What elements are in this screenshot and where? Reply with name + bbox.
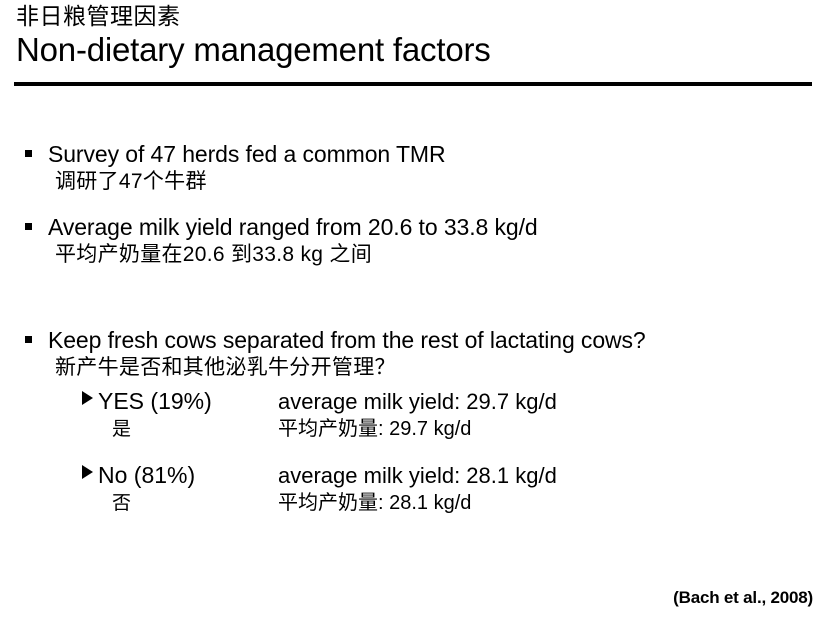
subitem-yes-label-chinese: 是 xyxy=(82,417,278,443)
title-divider-rule xyxy=(14,82,812,86)
source-citation: (Bach et al., 2008) xyxy=(673,588,813,608)
square-bullet-icon xyxy=(25,223,32,230)
bullet-item-2: Average milk yield ranged from 20.6 to 3… xyxy=(0,213,829,268)
page-title-english: Non-dietary management factors xyxy=(16,30,816,70)
bullet-item-3: Keep fresh cows separated from the rest … xyxy=(0,326,829,381)
square-bullet-icon xyxy=(25,150,32,157)
subitem-yes-value: average milk yield: 29.7 kg/d xyxy=(278,387,557,416)
square-bullet-icon xyxy=(25,336,32,343)
bullet-3-chinese: 新产牛是否和其他泌乳牛分开管理？ xyxy=(55,354,829,381)
subitem-yes-english-line: YES (19%) average milk yield: 29.7 kg/d xyxy=(82,387,829,416)
page-title-chinese: 非日粮管理因素 xyxy=(16,2,816,30)
bullet-1-chinese: 调研了47个牛群 xyxy=(55,168,829,195)
bullet-2-chinese: 平均产奶量在20.6 到33.8 kg 之间 xyxy=(55,241,829,268)
subitem-yes: YES (19%) average milk yield: 29.7 kg/d … xyxy=(82,387,829,443)
slide-body: Survey of 47 herds fed a common TMR 调研了4… xyxy=(0,140,829,517)
subitem-no-label-chinese: 否 xyxy=(82,491,278,517)
title-block: 非日粮管理因素 Non-dietary management factors xyxy=(16,2,816,70)
spacer-3 xyxy=(0,443,829,455)
subitem-no-chinese-line: 否 平均产奶量: 28.1 kg/d xyxy=(82,490,829,517)
subitem-no-label: No (81%) xyxy=(82,461,278,490)
bullet-1-english: Survey of 47 herds fed a common TMR xyxy=(48,140,829,168)
subitem-no-value-chinese: 平均产奶量: 28.1 kg/d xyxy=(278,490,471,516)
subitem-yes-label: YES (19%) xyxy=(82,387,278,416)
arrow-bullet-icon xyxy=(82,391,93,405)
bullet-3-english: Keep fresh cows separated from the rest … xyxy=(48,326,829,354)
bullet-2-english: Average milk yield ranged from 20.6 to 3… xyxy=(48,213,829,241)
arrow-bullet-icon xyxy=(82,465,93,479)
subitem-no-english-line: No (81%) average milk yield: 28.1 kg/d xyxy=(82,461,829,490)
spacer-1 xyxy=(0,195,829,213)
subitem-no: No (81%) average milk yield: 28.1 kg/d 否… xyxy=(82,461,829,517)
slide-canvas: 非日粮管理因素 Non-dietary management factors S… xyxy=(0,0,829,620)
subitem-no-value: average milk yield: 28.1 kg/d xyxy=(278,461,557,490)
spacer-2 xyxy=(0,268,829,326)
bullet-item-1: Survey of 47 herds fed a common TMR 调研了4… xyxy=(0,140,829,195)
subitem-yes-value-chinese: 平均产奶量: 29.7 kg/d xyxy=(278,416,471,442)
subitem-yes-chinese-line: 是 平均产奶量: 29.7 kg/d xyxy=(82,416,829,443)
